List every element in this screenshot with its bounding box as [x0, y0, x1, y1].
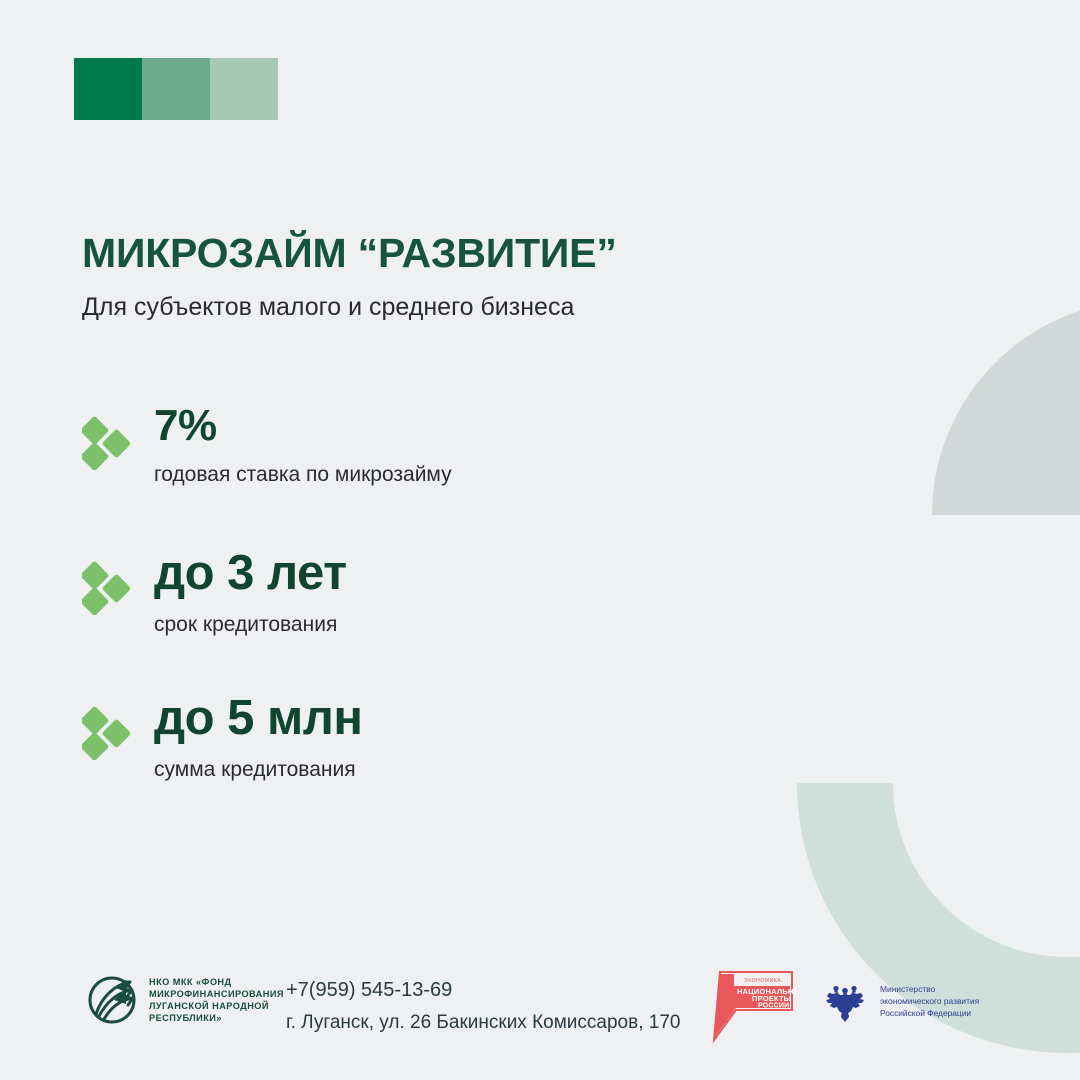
fund-name-line-3: ЛУГАНСКОЙ НАРОДНОЙ	[149, 1001, 269, 1011]
svg-text:ЭКОНОМИКА: ЭКОНОМИКА	[744, 978, 781, 984]
swatch-dark-green	[74, 58, 142, 120]
feature-value: до 3 лет	[154, 549, 722, 598]
brand-color-swatches	[74, 58, 278, 120]
feature-label: срок кредитования	[154, 612, 722, 637]
globe-arrows-emblem	[86, 974, 138, 1026]
swatch-light-green	[210, 58, 278, 120]
diamond-cluster-icon	[82, 706, 130, 760]
svg-text:РОССИИ: РОССИИ	[758, 1003, 789, 1010]
national-projects-logo: ЭКОНОМИКА НАЦИОНАЛЬНЫЕ ПРОЕКТЫ РОССИИ	[700, 968, 796, 1044]
swatch-medium-green	[142, 58, 210, 120]
fund-logo: НКО МКК «ФОНД МИКРОФИНАНСИРОВАНИЯ ЛУГАНС…	[86, 974, 284, 1026]
feature-item-rate: 7% годовая ставка по микрозайму	[82, 404, 722, 504]
ministry-name-line-1: Министерство	[880, 984, 935, 994]
feature-label: сумма кредитования	[154, 757, 722, 782]
feature-label: годовая ставка по микрозайму	[154, 462, 722, 487]
ministry-name-line-2: экономического развития	[880, 996, 979, 1006]
double-headed-eagle-emblem	[822, 978, 868, 1024]
diamond-cluster-icon	[82, 561, 130, 615]
feature-item-term: до 3 лет срок кредитования	[82, 549, 722, 649]
footer-bar: НКО МКК «ФОНД МИКРОФИНАНСИРОВАНИЯ ЛУГАНС…	[0, 960, 1080, 1060]
diamond-cluster-icon	[82, 416, 130, 470]
fund-name-line-4: РЕСПУБЛИКИ»	[149, 1013, 222, 1023]
ministry-logo: Министерство экономического развития Рос…	[822, 978, 979, 1024]
contact-info: +7(959) 545-13-69 г. Луганск, ул. 26 Бак…	[286, 978, 680, 1035]
contact-address: г. Луганск, ул. 26 Бакинских Комиссаров,…	[286, 1011, 680, 1035]
feature-item-amount: до 5 млн сумма кредитования	[82, 694, 722, 794]
ministry-name-line-3: Российской Федерации	[880, 1008, 971, 1018]
page-title: МИКРОЗАЙМ “РАЗВИТИЕ”	[82, 231, 882, 275]
feature-value: до 5 млн	[154, 694, 722, 743]
headline-block: МИКРОЗАЙМ “РАЗВИТИЕ” Для субъектов малог…	[82, 231, 882, 322]
page-subtitle: Для субъектов малого и среднего бизнеса	[82, 292, 882, 322]
grey-half-circle-shape	[932, 300, 1080, 730]
feature-list: 7% годовая ставка по микрозайму до 3 лет…	[82, 404, 722, 794]
contact-phone[interactable]: +7(959) 545-13-69	[286, 978, 680, 1003]
fund-name-line-1: НКО МКК «ФОНД	[149, 977, 232, 987]
fund-name: НКО МКК «ФОНД МИКРОФИНАНСИРОВАНИЯ ЛУГАНС…	[149, 976, 284, 1025]
fund-name-line-2: МИКРОФИНАНСИРОВАНИЯ	[149, 989, 284, 999]
feature-value: 7%	[154, 404, 722, 448]
ministry-name: Министерство экономического развития Рос…	[880, 983, 979, 1020]
